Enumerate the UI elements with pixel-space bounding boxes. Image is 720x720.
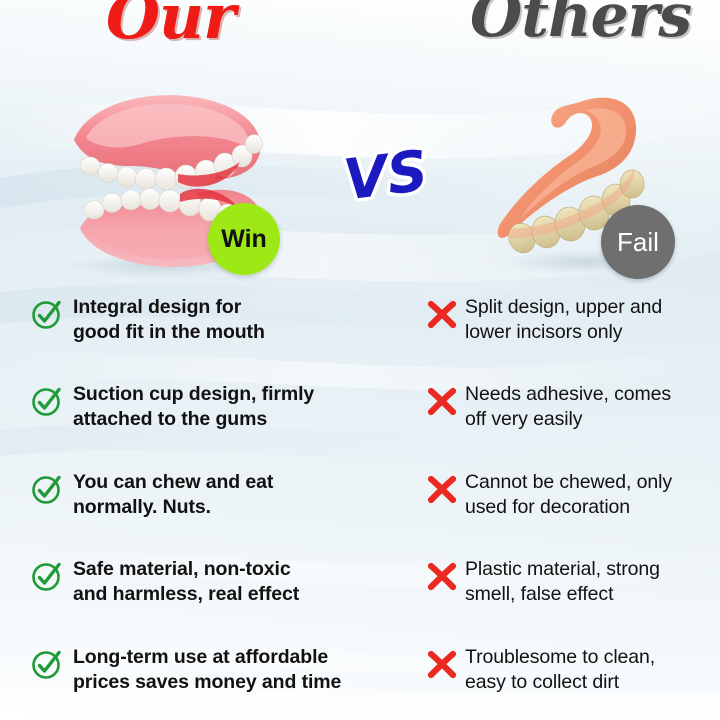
pro-text: Safe material, non-toxic and harmless, r… <box>73 557 299 607</box>
pro-text-line1: You can chew and eat <box>73 470 273 495</box>
pro-text-line2: attached to the gums <box>73 407 314 432</box>
check-circle-icon <box>30 472 64 506</box>
con-text-line1: Needs adhesive, comes <box>465 382 671 407</box>
con-text-line1: Cannot be chewed, only <box>465 470 672 495</box>
comparison-infographic: Our Others <box>0 0 720 720</box>
pro-item: Integral design for good fit in the mout… <box>30 295 370 345</box>
pro-item: You can chew and eat normally. Nuts. <box>30 470 370 520</box>
pro-text: You can chew and eat normally. Nuts. <box>73 470 273 520</box>
red-x-icon <box>425 559 459 593</box>
con-text: Split design, upper and lower incisors o… <box>465 295 662 345</box>
check-circle-icon <box>30 559 64 593</box>
pro-text-line2: and harmless, real effect <box>73 582 299 607</box>
red-x-icon <box>425 647 459 681</box>
fail-badge-label: Fail <box>617 227 659 258</box>
con-text-line2: used for decoration <box>465 495 672 520</box>
con-text: Plastic material, strong smell, false ef… <box>465 557 660 607</box>
con-text: Troublesome to clean, easy to collect di… <box>465 645 655 695</box>
table-row: Integral design for good fit in the mout… <box>0 283 720 370</box>
con-text: Cannot be chewed, only used for decorati… <box>465 470 672 520</box>
con-text-line2: smell, false effect <box>465 582 660 607</box>
red-x-icon <box>425 384 459 418</box>
pro-text-line1: Integral design for <box>73 295 265 320</box>
pro-text-line1: Suction cup design, firmly <box>73 382 314 407</box>
table-row: Long-term use at affordable prices saves… <box>0 633 720 720</box>
con-item: Plastic material, strong smell, false ef… <box>425 557 715 607</box>
pro-text: Suction cup design, firmly attached to t… <box>73 382 314 432</box>
header-others: Others <box>470 0 691 46</box>
pro-item: Safe material, non-toxic and harmless, r… <box>30 557 370 607</box>
check-circle-icon <box>30 297 64 331</box>
pro-text-line1: Long-term use at affordable <box>73 645 341 670</box>
table-row: Suction cup design, firmly attached to t… <box>0 370 720 457</box>
pro-text-line1: Safe material, non-toxic <box>73 557 299 582</box>
table-row: You can chew and eat normally. Nuts. Can… <box>0 458 720 545</box>
versus-mark: VS VS <box>338 136 442 214</box>
pro-text: Long-term use at affordable prices saves… <box>73 645 341 695</box>
con-item: Cannot be chewed, only used for decorati… <box>425 470 715 520</box>
con-item: Needs adhesive, comes off very easily <box>425 382 715 432</box>
pro-text-line2: good fit in the mouth <box>73 320 265 345</box>
check-circle-icon <box>30 384 64 418</box>
con-text-line2: easy to collect dirt <box>465 670 655 695</box>
pro-text-line2: prices saves money and time <box>73 670 341 695</box>
comparison-rows: Integral design for good fit in the mout… <box>0 283 720 720</box>
red-x-icon <box>425 297 459 331</box>
con-text-line1: Split design, upper and <box>465 295 662 320</box>
win-badge: Win <box>208 203 280 275</box>
table-row: Safe material, non-toxic and harmless, r… <box>0 545 720 632</box>
check-circle-icon <box>30 647 64 681</box>
con-text-line2: lower incisors only <box>465 320 662 345</box>
header-our: Our <box>106 0 235 48</box>
con-text-line1: Plastic material, strong <box>465 557 660 582</box>
con-text-line2: off very easily <box>465 407 671 432</box>
con-item: Split design, upper and lower incisors o… <box>425 295 715 345</box>
red-x-icon <box>425 472 459 506</box>
header-row: Our Others <box>0 0 720 62</box>
pro-text-line2: normally. Nuts. <box>73 495 273 520</box>
pro-item: Long-term use at affordable prices saves… <box>30 645 370 695</box>
win-badge-label: Win <box>221 225 267 254</box>
con-item: Troublesome to clean, easy to collect di… <box>425 645 715 695</box>
fail-badge: Fail <box>601 205 675 279</box>
con-text: Needs adhesive, comes off very easily <box>465 382 671 432</box>
con-text-line1: Troublesome to clean, <box>465 645 655 670</box>
svg-text:VS: VS <box>340 139 431 214</box>
pro-item: Suction cup design, firmly attached to t… <box>30 382 370 432</box>
pro-text: Integral design for good fit in the mout… <box>73 295 265 345</box>
